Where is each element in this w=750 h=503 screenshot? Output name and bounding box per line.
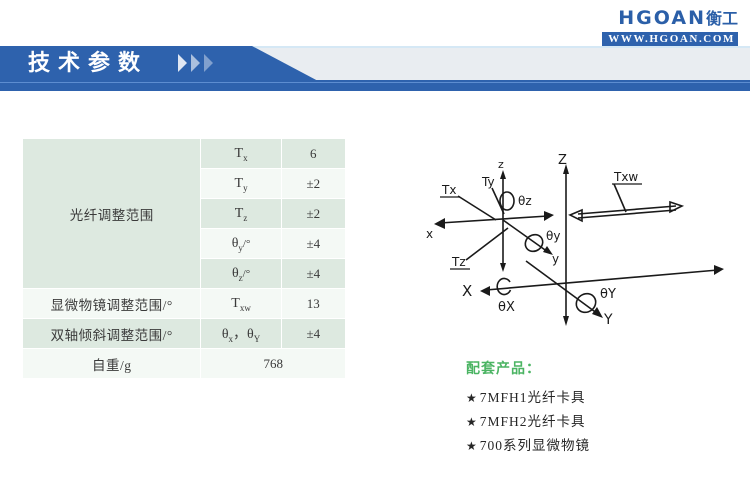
list-item-label: 7MFH1光纤卡具	[480, 390, 586, 405]
Tz-leader	[466, 228, 508, 260]
value-cell: ±4	[281, 229, 345, 259]
logo-wordmark: HGOAN衡工	[558, 8, 738, 29]
logo-chinese-text: 衡工	[706, 9, 738, 28]
Tx-leader	[458, 196, 496, 220]
table-row: 双轴倾斜调整范围/° θx，θY ±4	[23, 319, 346, 349]
row-label: 自重/g	[23, 349, 201, 379]
star-icon: ★	[466, 415, 478, 429]
axis-Y-line	[526, 261, 598, 314]
theta-X-rotation-symbol	[497, 278, 510, 294]
value-cell: ±4	[281, 319, 345, 349]
value-cell: 13	[281, 289, 345, 319]
symbol-cell: Tz	[201, 199, 281, 229]
symbol-cell: Ty	[201, 169, 281, 199]
degree-unit: /°	[243, 268, 250, 280]
label-Txw: Txw	[613, 170, 638, 184]
value-cell: 6	[281, 139, 345, 169]
list-item-label: 700系列显微物镜	[480, 438, 590, 453]
value-cell: 768	[201, 349, 346, 379]
label-Ty: Ty	[481, 175, 495, 189]
axis-x-small-arrow-right	[544, 211, 554, 221]
star-icon: ★	[466, 439, 478, 453]
label-X: X	[462, 282, 472, 300]
axis-X-arrow-right	[714, 265, 724, 275]
axis-z-small-arrow	[500, 170, 506, 179]
list-item: ★700系列显微物镜	[466, 434, 726, 458]
chevron-right-icon	[191, 54, 200, 72]
row-label: 显微物镜调整范围/°	[23, 289, 201, 319]
axis-z-small-arrow-down	[500, 263, 506, 272]
brand-logo[interactable]: HGOAN衡工 WWW.HGOAN.COM	[558, 8, 738, 47]
symbol-subscript-2: Y	[254, 334, 261, 344]
Txw-arrow-left	[570, 210, 582, 221]
symbol-subscript: xw	[240, 302, 251, 312]
symbol-subscript: y	[243, 182, 248, 192]
table-row: 显微物镜调整范围/° Txw 13	[23, 289, 346, 319]
list-item: ★7MFH2光纤卡具	[466, 410, 726, 434]
label-theta-z: θz	[518, 194, 532, 208]
degree-unit: /°	[243, 238, 250, 250]
axis-Z-arrow-down	[563, 316, 569, 326]
page-header: 技术参数	[0, 46, 750, 92]
label-theta-y: θy	[546, 229, 560, 243]
label-theta-Y: θY	[600, 287, 616, 302]
label-z-small: z	[498, 158, 504, 171]
axis-X-arrow	[480, 286, 490, 296]
symbol-cell: Tx	[201, 139, 281, 169]
double-chevron-right-icon	[178, 54, 213, 72]
logo-website-url[interactable]: WWW.HGOAN.COM	[602, 32, 738, 46]
symbol-cell: Txw	[201, 289, 281, 319]
label-x-small: x	[426, 227, 433, 241]
table-row: 自重/g 768	[23, 349, 346, 379]
Txw-line-2	[578, 210, 676, 218]
chevron-right-icon	[178, 54, 187, 72]
value-cell: ±2	[281, 169, 345, 199]
symbol-cell: θy/°	[201, 229, 281, 259]
symbol-cell: θx，θY	[201, 319, 281, 349]
coordinate-axes-diagram: Z Txw Ty Tx Tz θz θy x y z X θX θY Y	[418, 148, 738, 348]
list-item-label: 7MFH2光纤卡具	[480, 414, 586, 429]
related-products-block: 配套产品： ★7MFH1光纤卡具 ★7MFH2光纤卡具 ★700系列显微物镜	[466, 358, 726, 458]
table-row: 光纤调整范围 Tx 6	[23, 139, 346, 169]
value-cell: ±2	[281, 199, 345, 229]
label-theta-X: θX	[498, 300, 515, 315]
axes-svg: Z Txw Ty Tx Tz θz θy x y z X θX θY Y	[418, 148, 738, 348]
logo-latin-text: HGOAN	[618, 7, 706, 29]
star-icon: ★	[466, 391, 478, 405]
header-bottom-rule-highlight	[0, 82, 750, 83]
theta-z-rotation-symbol	[500, 192, 514, 210]
related-products-title: 配套产品：	[466, 358, 726, 378]
specification-table: 光纤调整范围 Tx 6 Ty ±2 Tz ±2 θy/° ±4 θ	[22, 138, 346, 379]
Txw-line	[578, 206, 676, 214]
label-Y: Y	[603, 312, 613, 328]
list-item: ★7MFH1光纤卡具	[466, 386, 726, 410]
symbol-subscript: x	[229, 334, 234, 344]
page-title: 技术参数	[28, 50, 148, 78]
label-y-small: y	[552, 252, 559, 266]
value-cell: ±4	[281, 259, 345, 289]
symbol-subscript: z	[243, 212, 247, 222]
label-Tz: Tz	[451, 255, 466, 269]
label-Tx: Tx	[441, 183, 456, 197]
label-Z: Z	[558, 153, 567, 168]
chevron-right-icon	[204, 54, 213, 72]
axis-x-small-arrow	[434, 218, 445, 229]
header-bottom-rule	[0, 80, 750, 91]
row-group-label-fiber-range: 光纤调整范围	[23, 139, 201, 289]
symbol-cell: θz/°	[201, 259, 281, 289]
row-label: 双轴倾斜调整范围/°	[23, 319, 201, 349]
Txw-leader	[614, 184, 626, 212]
symbol-subscript: x	[243, 152, 248, 162]
